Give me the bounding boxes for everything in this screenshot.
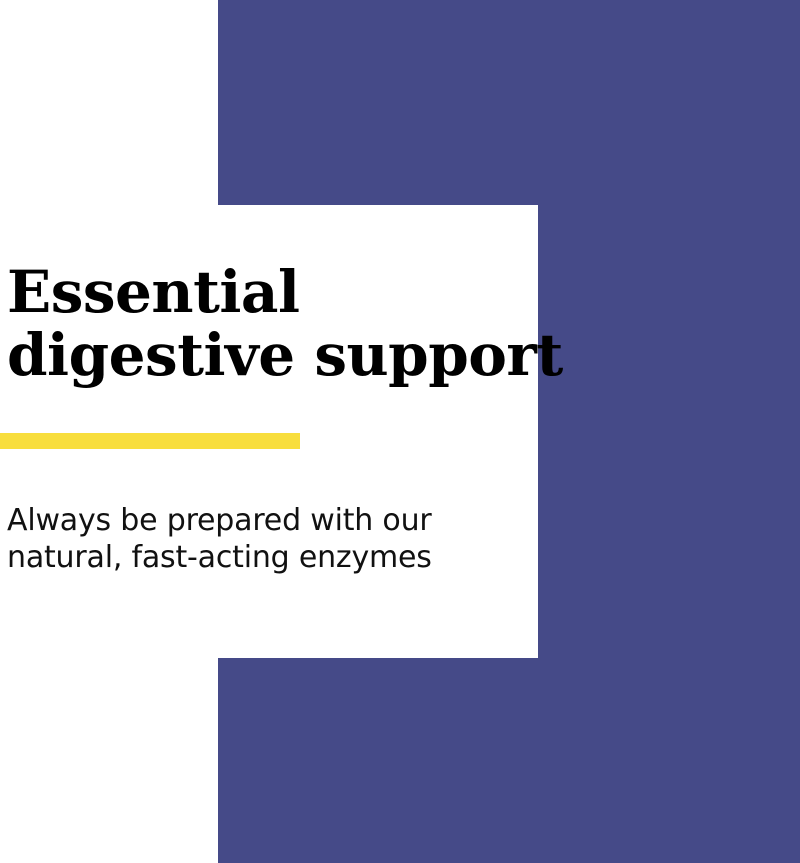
page-title: Essential digestive support [7, 261, 527, 387]
banner-content: Essential digestive support Always be pr… [0, 205, 538, 658]
yellow-accent-rule [0, 433, 300, 449]
promo-banner: Essential digestive support Always be pr… [0, 0, 800, 863]
headline-line-2: digestive support [7, 324, 527, 387]
subtitle-line-2: natural, fast-acting enzymes [7, 539, 527, 576]
subtitle-line-1: Always be prepared with our [7, 502, 527, 539]
page-subtitle: Always be prepared with our natural, fas… [7, 502, 527, 576]
headline-line-1: Essential [7, 261, 527, 324]
